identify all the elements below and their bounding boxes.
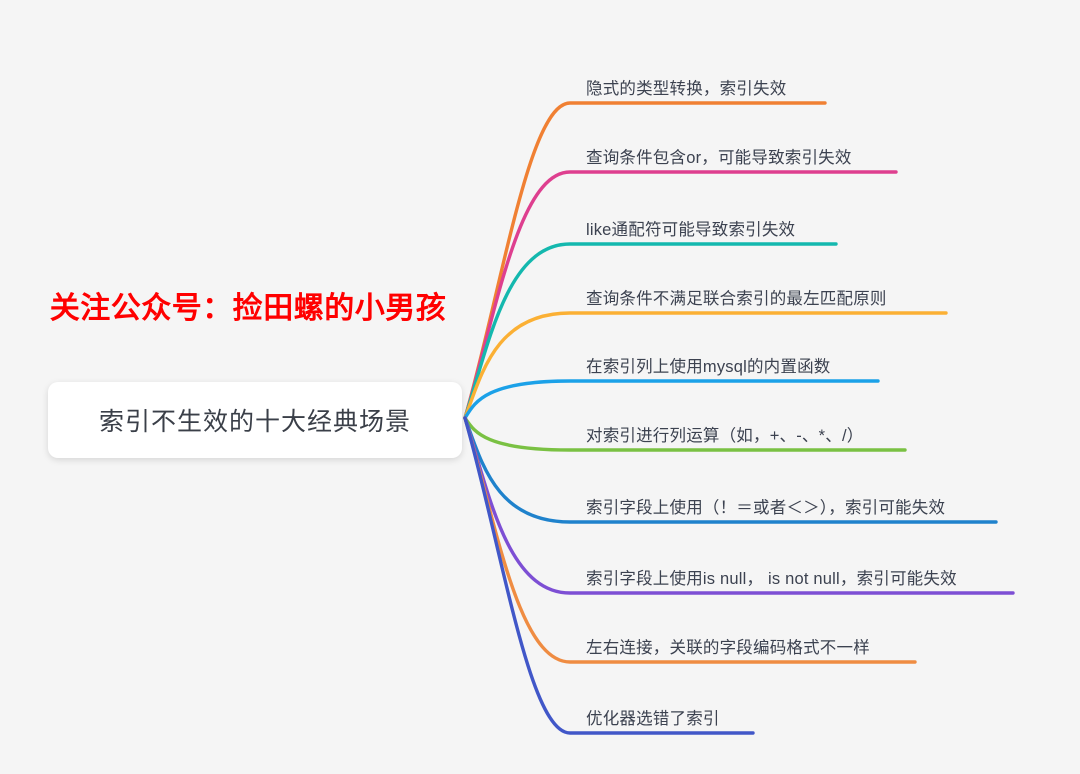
branch-curve-3 [465, 244, 836, 418]
central-node-label: 索引不生效的十大经典场景 [99, 402, 411, 438]
branch-label-3[interactable]: like通配符可能导致索引失效 [586, 216, 795, 243]
branch-label-8[interactable]: 索引字段上使用is null， is not null，索引可能失效 [586, 565, 957, 592]
mindmap-canvas: 关注公众号：捡田螺的小男孩 索引不生效的十大经典场景 隐式的类型转换，索引失效查… [0, 0, 1080, 774]
branch-curve-9 [465, 418, 915, 662]
branch-label-1[interactable]: 隐式的类型转换，索引失效 [586, 75, 786, 102]
branch-label-5[interactable]: 在索引列上使用mysql的内置函数 [586, 353, 831, 380]
branch-curve-5 [465, 381, 878, 418]
promo-title: 关注公众号：捡田螺的小男孩 [28, 283, 468, 327]
branch-label-2[interactable]: 查询条件包含or，可能导致索引失效 [586, 144, 852, 171]
branch-label-9[interactable]: 左右连接，关联的字段编码格式不一样 [586, 634, 870, 661]
branch-label-6[interactable]: 对索引进行列运算（如，+、-、*、/） [586, 422, 863, 449]
branch-label-7[interactable]: 索引字段上使用（！＝或者＜＞），索引可能失效 [586, 494, 945, 521]
branch-label-10[interactable]: 优化器选错了索引 [586, 705, 720, 732]
branch-label-4[interactable]: 查询条件不满足联合索引的最左匹配原则 [586, 285, 887, 312]
central-node[interactable]: 索引不生效的十大经典场景 [48, 382, 462, 458]
